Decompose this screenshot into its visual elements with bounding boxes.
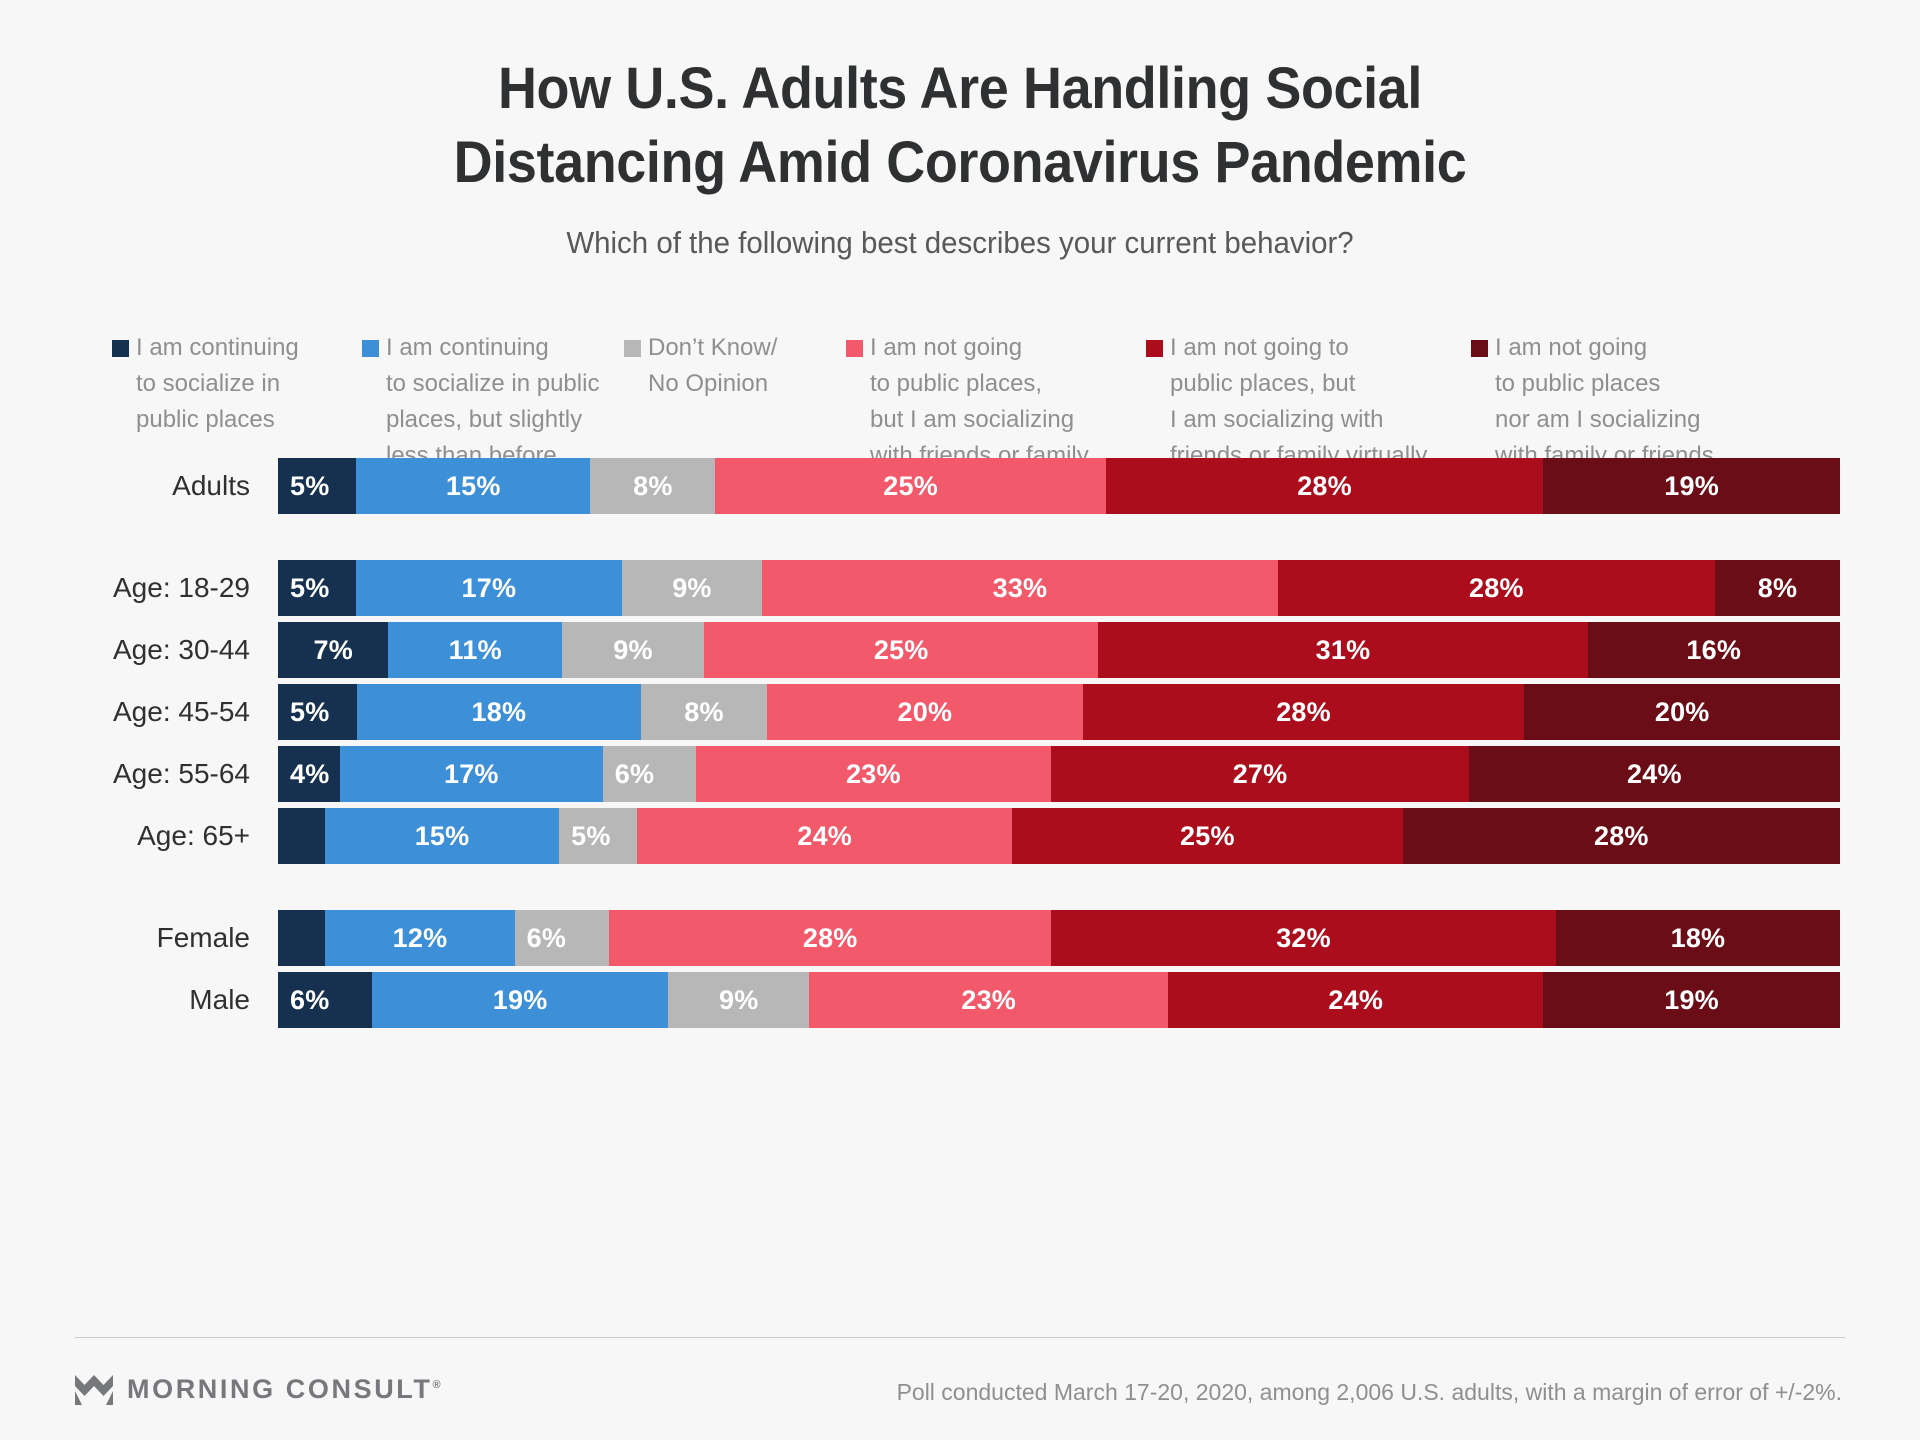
stacked-bar: 12%6%28%32%18% <box>278 910 1840 966</box>
bar-segment[interactable]: 6% <box>603 746 696 802</box>
stacked-bar: 4%17%6%23%27%24% <box>278 746 1840 802</box>
bar-segment[interactable]: 4% <box>278 746 340 802</box>
bar-segment[interactable]: 15% <box>325 808 559 864</box>
bar-segment[interactable]: 28% <box>1083 684 1525 740</box>
page-title: How U.S. Adults Are Handling Social Dist… <box>67 52 1853 200</box>
bar-segment[interactable]: 8% <box>590 458 715 514</box>
bar-segment[interactable]: 16% <box>1588 622 1840 678</box>
bar-segment[interactable]: 28% <box>1403 808 1840 864</box>
bar-segment[interactable]: 18% <box>1556 910 1840 966</box>
infographic-root: How U.S. Adults Are Handling Social Dist… <box>0 0 1920 1440</box>
legend-swatch-icon <box>846 340 863 357</box>
legend-item-label: I am not going to public places, but I a… <box>1170 330 1427 474</box>
logo-wordmark: MORNING CONSULT® <box>127 1374 441 1405</box>
row-category-label: Age: 65+ <box>0 820 278 852</box>
stacked-bar: 7%11%9%25%31%16% <box>278 622 1840 678</box>
bar-segment[interactable] <box>278 808 325 864</box>
bar-segment[interactable]: 17% <box>356 560 622 616</box>
bar-segment[interactable]: 28% <box>1278 560 1715 616</box>
bar-group-overall: Adults5%15%8%25%28%19% <box>0 458 1920 514</box>
legend-item-label: I am continuing to socialize in public p… <box>136 330 299 438</box>
bar-segment[interactable]: 6% <box>515 910 610 966</box>
bar-segment[interactable]: 18% <box>357 684 641 740</box>
stacked-bar: 5%18%8%20%28%20% <box>278 684 1840 740</box>
legend-swatch-icon <box>362 340 379 357</box>
bar-segment[interactable]: 12% <box>325 910 514 966</box>
bar-segment[interactable]: 19% <box>1543 458 1840 514</box>
chart-row[interactable]: Female12%6%28%32%18% <box>0 910 1920 966</box>
bar-segment[interactable]: 20% <box>1524 684 1840 740</box>
bar-segment[interactable]: 19% <box>1543 972 1840 1028</box>
bar-segment[interactable]: 23% <box>809 972 1168 1028</box>
bar-segment[interactable]: 24% <box>1168 972 1543 1028</box>
bar-segment[interactable]: 5% <box>278 560 356 616</box>
bar-group-age: Age: 18-295%17%9%33%28%8%Age: 30-447%11%… <box>0 560 1920 864</box>
logo-wordmark-text: MORNING CONSULT <box>127 1374 432 1404</box>
bar-segment[interactable]: 28% <box>609 910 1051 966</box>
row-category-label: Adults <box>0 470 278 502</box>
row-category-label: Age: 45-54 <box>0 696 278 728</box>
legend-swatch-icon <box>1146 340 1163 357</box>
bar-segment[interactable]: 9% <box>622 560 763 616</box>
bar-segment[interactable]: 25% <box>704 622 1098 678</box>
bar-segment[interactable]: 17% <box>340 746 603 802</box>
legend-item-2[interactable]: Don’t Know/ No Opinion <box>624 330 846 402</box>
bar-segment[interactable]: 5% <box>278 458 356 514</box>
stacked-bar: 5%15%8%25%28%19% <box>278 458 1840 514</box>
bar-segment[interactable]: 8% <box>641 684 767 740</box>
bar-segment[interactable]: 9% <box>668 972 809 1028</box>
bar-segment[interactable]: 33% <box>762 560 1277 616</box>
chart-row[interactable]: Adults5%15%8%25%28%19% <box>0 458 1920 514</box>
legend-item-label: Don’t Know/ No Opinion <box>648 330 777 402</box>
bar-segment[interactable]: 27% <box>1051 746 1469 802</box>
morning-consult-logo: MORNING CONSULT® <box>75 1374 441 1405</box>
registered-mark: ® <box>432 1379 440 1391</box>
stacked-bar-chart: Adults5%15%8%25%28%19%Age: 18-295%17%9%3… <box>0 458 1920 1028</box>
row-category-label: Female <box>0 922 278 954</box>
bar-segment[interactable] <box>278 910 325 966</box>
bar-segment[interactable]: 11% <box>388 622 562 678</box>
page-subtitle: Which of the following best describes yo… <box>48 225 1872 261</box>
chart-row[interactable]: Age: 55-644%17%6%23%27%24% <box>0 746 1920 802</box>
bar-segment[interactable]: 24% <box>1469 746 1840 802</box>
legend-item-label: I am not going to public places nor am I… <box>1495 330 1714 474</box>
legend-swatch-icon <box>1471 340 1488 357</box>
legend-item-1[interactable]: I am continuing to socialize in public p… <box>362 330 624 474</box>
bar-segment[interactable]: 7% <box>278 622 388 678</box>
legend-swatch-icon <box>112 340 129 357</box>
bar-segment[interactable]: 5% <box>559 808 637 864</box>
bar-segment[interactable]: 23% <box>696 746 1052 802</box>
bar-group-gender: Female12%6%28%32%18%Male6%19%9%23%24%19% <box>0 910 1920 1028</box>
row-category-label: Age: 30-44 <box>0 634 278 666</box>
chart-row[interactable]: Male6%19%9%23%24%19% <box>0 972 1920 1028</box>
stacked-bar: 5%17%9%33%28%8% <box>278 560 1840 616</box>
footer-divider <box>75 1337 1845 1338</box>
bar-segment[interactable]: 9% <box>562 622 704 678</box>
page-title-line-2: Distancing Amid Coronavirus Pandemic <box>67 126 1853 200</box>
chart-row[interactable]: Age: 45-545%18%8%20%28%20% <box>0 684 1920 740</box>
row-category-label: Age: 55-64 <box>0 758 278 790</box>
group-spacer <box>0 514 1920 560</box>
bar-segment[interactable]: 25% <box>715 458 1106 514</box>
bar-segment[interactable]: 24% <box>637 808 1012 864</box>
bar-segment[interactable]: 28% <box>1106 458 1543 514</box>
bar-segment[interactable]: 20% <box>767 684 1083 740</box>
bar-segment[interactable]: 25% <box>1012 808 1403 864</box>
chart-row[interactable]: Age: 18-295%17%9%33%28%8% <box>0 560 1920 616</box>
stacked-bar: 15%5%24%25%28% <box>278 808 1840 864</box>
row-category-label: Male <box>0 984 278 1016</box>
chart-row[interactable]: Age: 65+15%5%24%25%28% <box>0 808 1920 864</box>
bar-segment[interactable]: 31% <box>1098 622 1587 678</box>
page-title-line-1: How U.S. Adults Are Handling Social <box>67 52 1853 126</box>
bar-segment[interactable]: 5% <box>278 684 357 740</box>
chart-row[interactable]: Age: 30-447%11%9%25%31%16% <box>0 622 1920 678</box>
bar-segment[interactable]: 19% <box>372 972 669 1028</box>
chevron-logo-icon <box>75 1375 113 1405</box>
stacked-bar: 6%19%9%23%24%19% <box>278 972 1840 1028</box>
legend-swatch-icon <box>624 340 641 357</box>
bar-segment[interactable]: 15% <box>356 458 590 514</box>
legend-item-5[interactable]: I am not going to public places nor am I… <box>1471 330 1771 474</box>
legend-item-4[interactable]: I am not going to public places, but I a… <box>1146 330 1471 474</box>
bar-segment[interactable]: 8% <box>1715 560 1840 616</box>
bar-segment[interactable]: 6% <box>278 972 372 1028</box>
source-note: Poll conducted March 17-20, 2020, among … <box>897 1379 1842 1406</box>
row-category-label: Age: 18-29 <box>0 572 278 604</box>
group-spacer <box>0 864 1920 910</box>
legend-item-0[interactable]: I am continuing to socialize in public p… <box>112 330 362 438</box>
legend-item-label: I am continuing to socialize in public p… <box>386 330 599 474</box>
bar-segment[interactable]: 32% <box>1051 910 1556 966</box>
